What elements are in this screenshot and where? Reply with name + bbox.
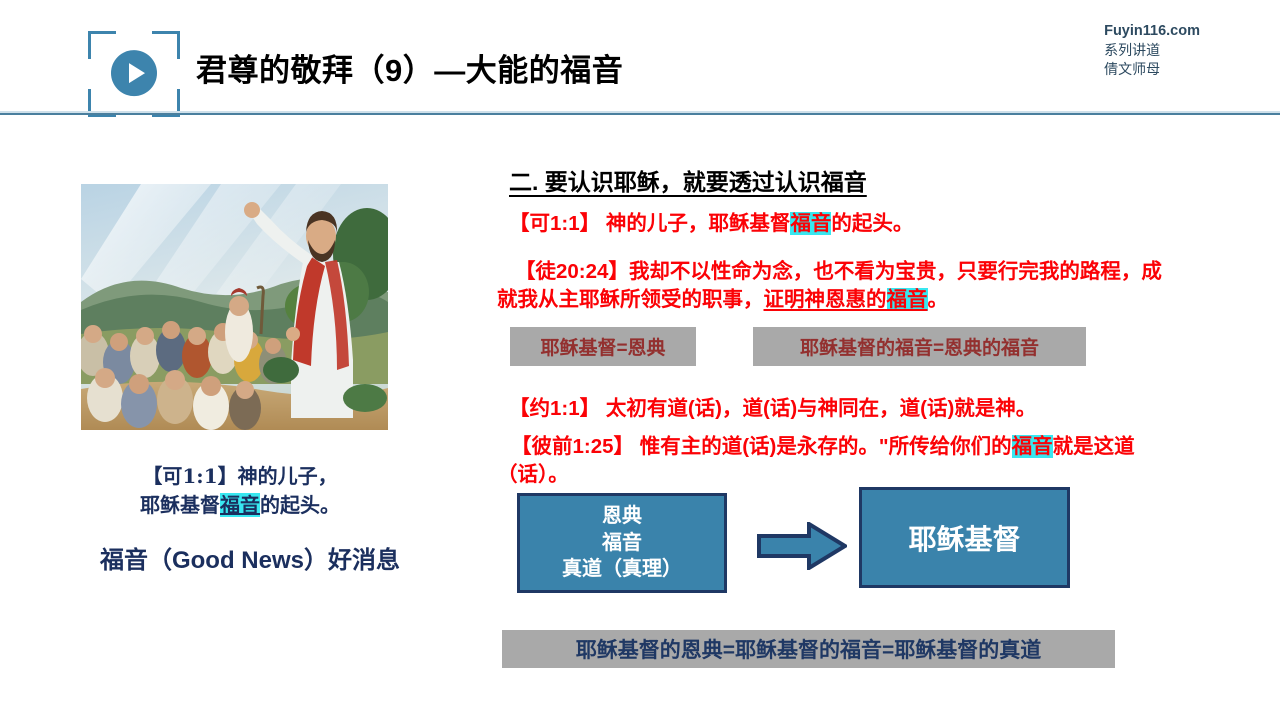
verse-ref: 【彼前1:25】 (511, 435, 634, 458)
verse-text-pre: 太初有道(话)，道(话)与神同在，道(话)就是神。 (600, 397, 1036, 420)
diagram-box-left: 恩典 福音 真道（真理） (517, 493, 727, 593)
verse-john-1-1: 【约1:1】 太初有道(话)，道(话)与神同在，道(话)就是神。 (509, 395, 1189, 423)
good-news-label: 福音（Good News）好消息 (60, 540, 440, 575)
caption-line-2: 耶稣基督福音的起头。 (60, 491, 420, 520)
verse-1peter-1-25: 【彼前1:25】 惟有主的道(话)是永存的。"所传给你们的福音就是这道（话）。 (497, 433, 1157, 490)
summary-banner: 耶稣基督的恩典=耶稣基督的福音=耶稣基督的真道 (502, 630, 1115, 668)
diagram-box-right: 耶稣基督 (859, 487, 1070, 588)
frame-corner-top-left-h (88, 31, 116, 34)
chip-grace-equation: 耶稣基督=恩典 (510, 327, 696, 366)
chip-gospel-equation: 耶稣基督的福音=恩典的福音 (753, 327, 1086, 366)
verse-mark-1-1: 【可1:1】 神的儿子，耶稣基督福音的起头。 (509, 210, 1189, 238)
caption-line-2-pre: 耶稣基督 (140, 493, 220, 517)
verse-underline: 证明神恩惠的 (764, 288, 887, 311)
diagram-right-label: 耶稣基督 (908, 518, 1020, 558)
verse-text-pre: 惟有主的道(话)是永存的。"所传给你们的 (634, 435, 1012, 458)
verse-ref: 【徒20:24】 (515, 260, 629, 283)
logo-frame (88, 31, 180, 117)
verse-text-post: 的起头。 (831, 212, 913, 235)
verse-highlight: 福音 (887, 288, 928, 311)
verse-ref: 【可1:1】 (509, 212, 600, 235)
play-triangle-icon (129, 63, 145, 83)
chip-label: 耶稣基督=恩典 (540, 333, 665, 360)
play-circle-icon[interactable] (111, 50, 157, 96)
slide-header: 君尊的敬拜（9）—大能的福音 Fuyin116.com 系列讲道 倩文师母 (0, 0, 1280, 118)
caption-line-2-post: 的起头。 (260, 493, 340, 517)
diagram-left-line-2: 福音 (602, 530, 642, 557)
verse-text-pre: 神的儿子，耶稣基督 (600, 212, 790, 235)
page-title: 君尊的敬拜（9）—大能的福音 (196, 45, 623, 90)
painting-artwork (81, 184, 388, 430)
frame-corner-top-right-h (152, 31, 180, 34)
image-caption: 【可1:1】神的儿子， 耶稣基督福音的起头。 (60, 462, 420, 520)
frame-corner-top-right-v (177, 31, 180, 59)
verse-text-post: 。 (928, 288, 949, 311)
header-divider (0, 113, 1280, 115)
section-heading: 二. 要认识耶稣，就要透过认识福音 (509, 163, 867, 197)
brand-speaker: 倩文师母 (1104, 60, 1200, 79)
summary-banner-label: 耶稣基督的恩典=耶稣基督的福音=耶稣基督的真道 (576, 634, 1042, 664)
verse-ref: 【约1:1】 (509, 397, 600, 420)
diagram-left-line-3: 真道（真理） (562, 556, 682, 583)
right-arrow-icon (757, 522, 847, 570)
verse-highlight: 福音 (1012, 435, 1053, 458)
brand-series: 系列讲道 (1104, 41, 1200, 60)
chip-label: 耶稣基督的福音=恩典的福音 (800, 333, 1039, 360)
brand-site: Fuyin116.com (1104, 22, 1200, 41)
caption-highlight: 福音 (220, 493, 260, 517)
frame-corner-top-left-v (88, 31, 91, 59)
brand-block: Fuyin116.com 系列讲道 倩文师母 (1104, 22, 1200, 79)
verse-highlight: 福音 (790, 212, 831, 235)
diagram-left-line-1: 恩典 (602, 503, 642, 530)
caption-line-1: 【可1:1】神的儿子， (60, 462, 420, 491)
verse-acts-20-24: 【徒20:24】我却不以性命为念，也不看为宝贵，只要行完我的路程，成就我从主耶稣… (497, 258, 1162, 315)
jesus-preaching-painting (81, 184, 388, 430)
